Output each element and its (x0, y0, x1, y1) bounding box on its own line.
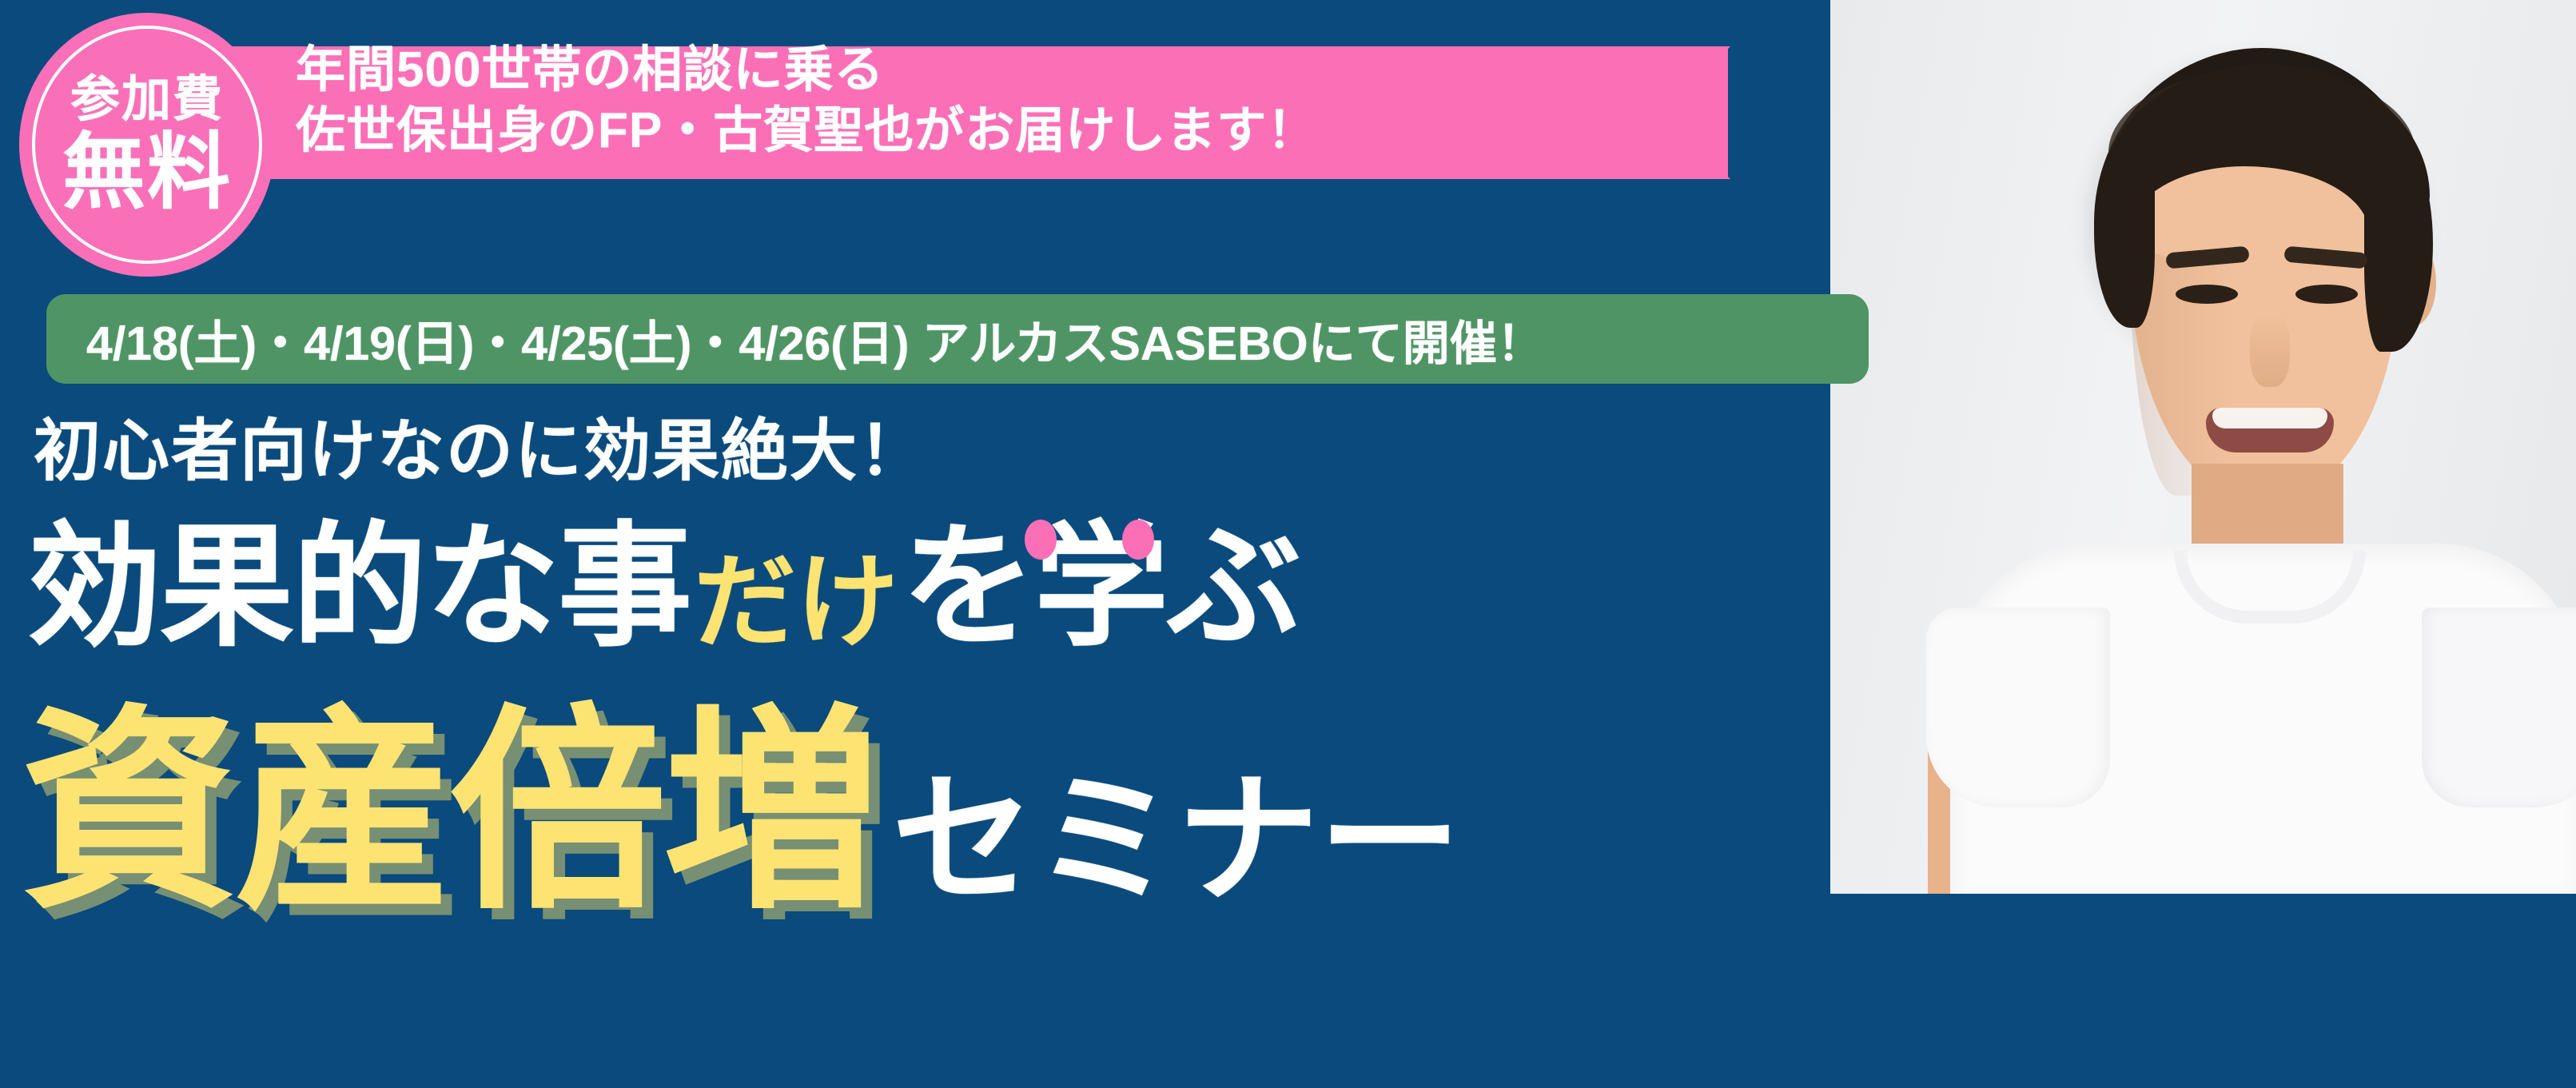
ribbon-line-2: 佐世保出身のFP・古賀聖也がお届けします！ (296, 101, 1317, 161)
photo-sleeve-right (2422, 608, 2576, 807)
headline-line2-accent: だけ (691, 552, 902, 654)
photo-nose (2250, 313, 2290, 387)
seminar-banner: 年間500世帯の相談に乗る 佐世保出身のFP・古賀聖也がお届けします！ 参加費 … (0, 0, 2576, 1088)
presenter-photo (1830, 0, 2576, 894)
free-admission-badge: 参加費 無料 (19, 13, 275, 277)
badge-top-label: 参加費 (70, 75, 224, 125)
headline-kicker: 初心者向けなのに効果絶大！ (34, 417, 927, 484)
ribbon-text-block: 年間500世帯の相談に乗る 佐世保出身のFP・古賀聖也がお届けします！ (296, 40, 1317, 161)
headline-line3-main: 資産倍増 (21, 703, 878, 921)
ribbon-line-1: 年間500世帯の相談に乗る (296, 40, 1317, 101)
photo-eye-right (2295, 285, 2358, 304)
emphasis-dot-icon (1122, 520, 1154, 560)
event-date-bar: 4/18(土)・4/19(日)・4/25(土)・4/26(日) アルカスSASE… (46, 294, 1869, 384)
headline-line3-sub: セミナー (892, 769, 1461, 921)
photo-mouth (2206, 408, 2334, 452)
photo-eye-left (2176, 285, 2238, 304)
badge-main-label: 無料 (62, 131, 232, 214)
headline-line2-part1: 効果的な事 (27, 520, 691, 654)
event-date-text: 4/18(土)・4/19(日)・4/25(土)・4/26(日) アルカスSASE… (46, 305, 1544, 373)
emphasis-dots (1025, 520, 1154, 560)
photo-sleeve-left (1926, 608, 2110, 807)
photo-teeth (2212, 408, 2327, 428)
emphasis-dot-icon (1025, 520, 1057, 560)
headline-line-3: 資産倍増 セミナー (21, 703, 1461, 921)
